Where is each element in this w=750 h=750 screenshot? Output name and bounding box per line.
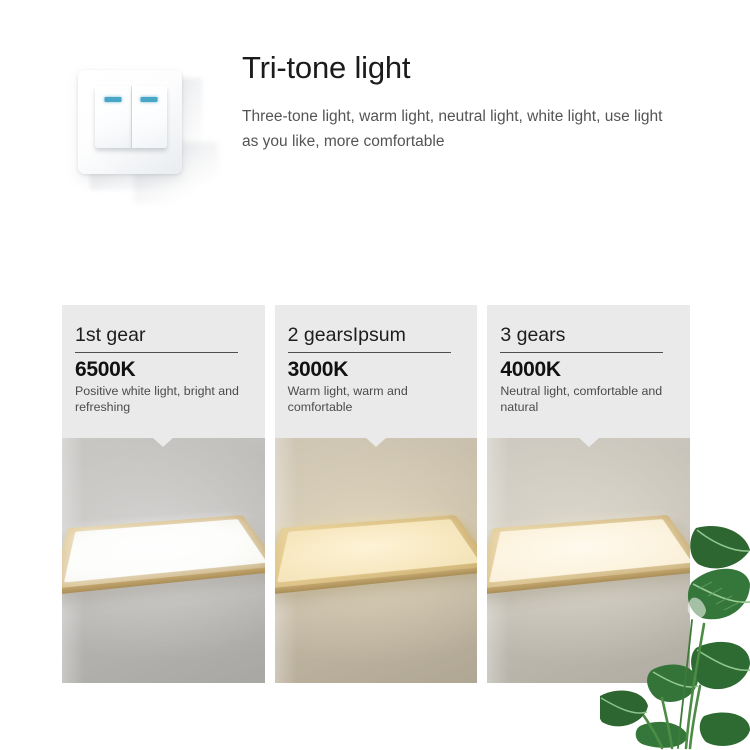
card-photo-ceiling-lamp	[62, 438, 265, 683]
wall-switch-illustration	[62, 56, 222, 206]
switch-rocker-left[interactable]	[95, 86, 132, 148]
callout-tail	[152, 437, 174, 447]
card-divider	[500, 352, 663, 353]
card-kelvin-value: 4000K	[500, 357, 677, 382]
card-kelvin-value: 6500K	[75, 357, 252, 382]
card-photo-ceiling-lamp	[487, 438, 690, 683]
callout-tail	[578, 437, 600, 447]
header-section: Tri-tone light Three-tone light, warm li…	[0, 0, 750, 280]
light-mode-card[interactable]: 3 gears 4000K Neutral light, comfortable…	[487, 305, 690, 683]
led-indicator-icon	[104, 97, 121, 102]
card-gear-title: 3 gears	[500, 323, 677, 347]
switch-rocker-group	[95, 86, 167, 148]
light-mode-card[interactable]: 2 gearsIpsum 3000K Warm light, warm and …	[275, 305, 478, 683]
switch-rocker-right[interactable]	[132, 86, 168, 148]
card-description: Positive white light, bright and refresh…	[75, 384, 252, 415]
page-subtitle: Three-tone light, warm light, neutral li…	[242, 104, 674, 154]
card-description: Warm light, warm and comfortable	[288, 384, 465, 415]
light-mode-card-strip: 1st gear 6500K Positive white light, bri…	[62, 305, 690, 683]
card-gear-title: 1st gear	[75, 323, 252, 347]
callout-tail	[365, 437, 387, 447]
header-text-block: Tri-tone light Three-tone light, warm li…	[242, 48, 712, 154]
card-divider	[75, 352, 238, 353]
card-photo-ceiling-lamp	[275, 438, 478, 683]
card-info-panel: 3 gears 4000K Neutral light, comfortable…	[487, 305, 690, 438]
card-gear-title: 2 gearsIpsum	[288, 323, 465, 347]
product-feature-page: Tri-tone light Three-tone light, warm li…	[0, 0, 750, 750]
card-info-panel: 1st gear 6500K Positive white light, bri…	[62, 305, 265, 438]
led-indicator-icon	[141, 97, 158, 102]
page-title: Tri-tone light	[242, 48, 712, 88]
card-kelvin-value: 3000K	[288, 357, 465, 382]
card-info-panel: 2 gearsIpsum 3000K Warm light, warm and …	[275, 305, 478, 438]
light-mode-card[interactable]: 1st gear 6500K Positive white light, bri…	[62, 305, 265, 683]
card-description: Neutral light, comfortable and natural	[500, 384, 677, 415]
card-divider	[288, 352, 451, 353]
